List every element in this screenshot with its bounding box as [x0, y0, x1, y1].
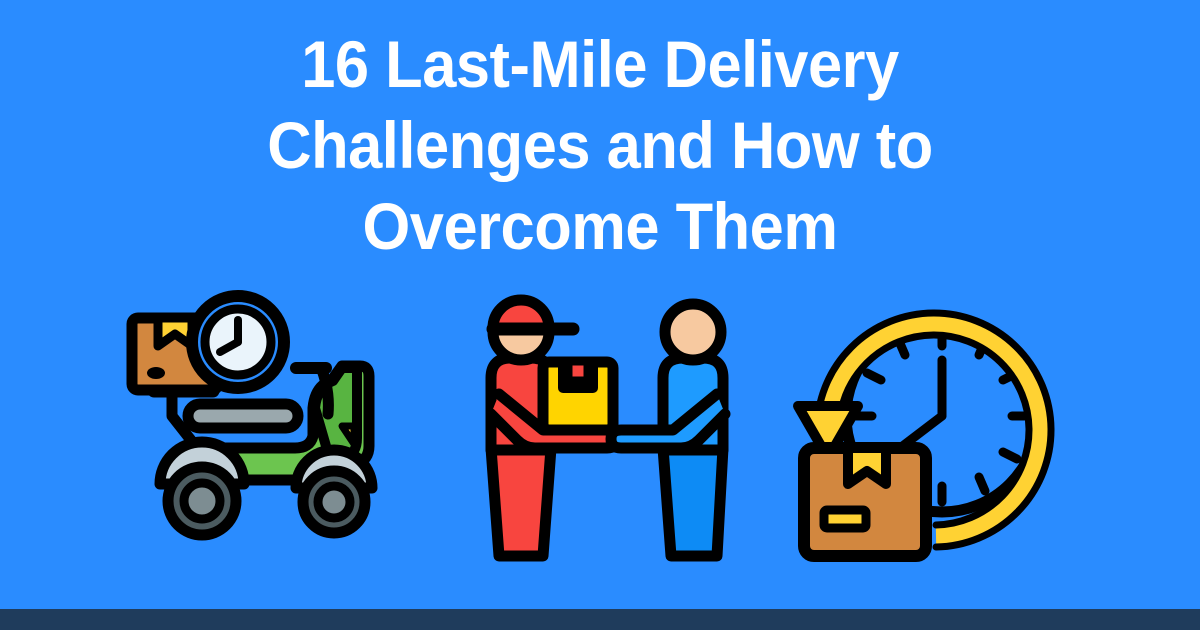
customer-legs — [663, 448, 723, 556]
scooter-front-hub — [318, 486, 350, 518]
courier-legs — [491, 448, 551, 556]
scooter-rear-hub — [184, 483, 220, 519]
delivery-scooter-illustration — [110, 288, 410, 578]
customer-head — [665, 304, 721, 360]
illustration-row — [0, 288, 1200, 588]
scooter-seat — [188, 404, 298, 428]
on-time-delivery-illustration — [790, 288, 1080, 578]
title-line-2: Challenges and How to — [42, 105, 1158, 186]
bottom-accent-bar — [0, 609, 1200, 630]
scooter-handle-stem — [322, 370, 328, 414]
title-line-3: Overcome Them — [42, 186, 1158, 267]
banner-graphic: 16 Last-Mile Delivery Challenges and How… — [0, 0, 1200, 630]
scooter-parcel-label — [147, 367, 165, 379]
title-line-1: 16 Last-Mile Delivery — [42, 24, 1158, 105]
page-title: 16 Last-Mile Delivery Challenges and How… — [0, 24, 1200, 267]
delivery-handoff-illustration — [455, 288, 755, 578]
ontime-parcel-label — [824, 510, 866, 528]
handoff-parcel-label — [569, 362, 587, 380]
